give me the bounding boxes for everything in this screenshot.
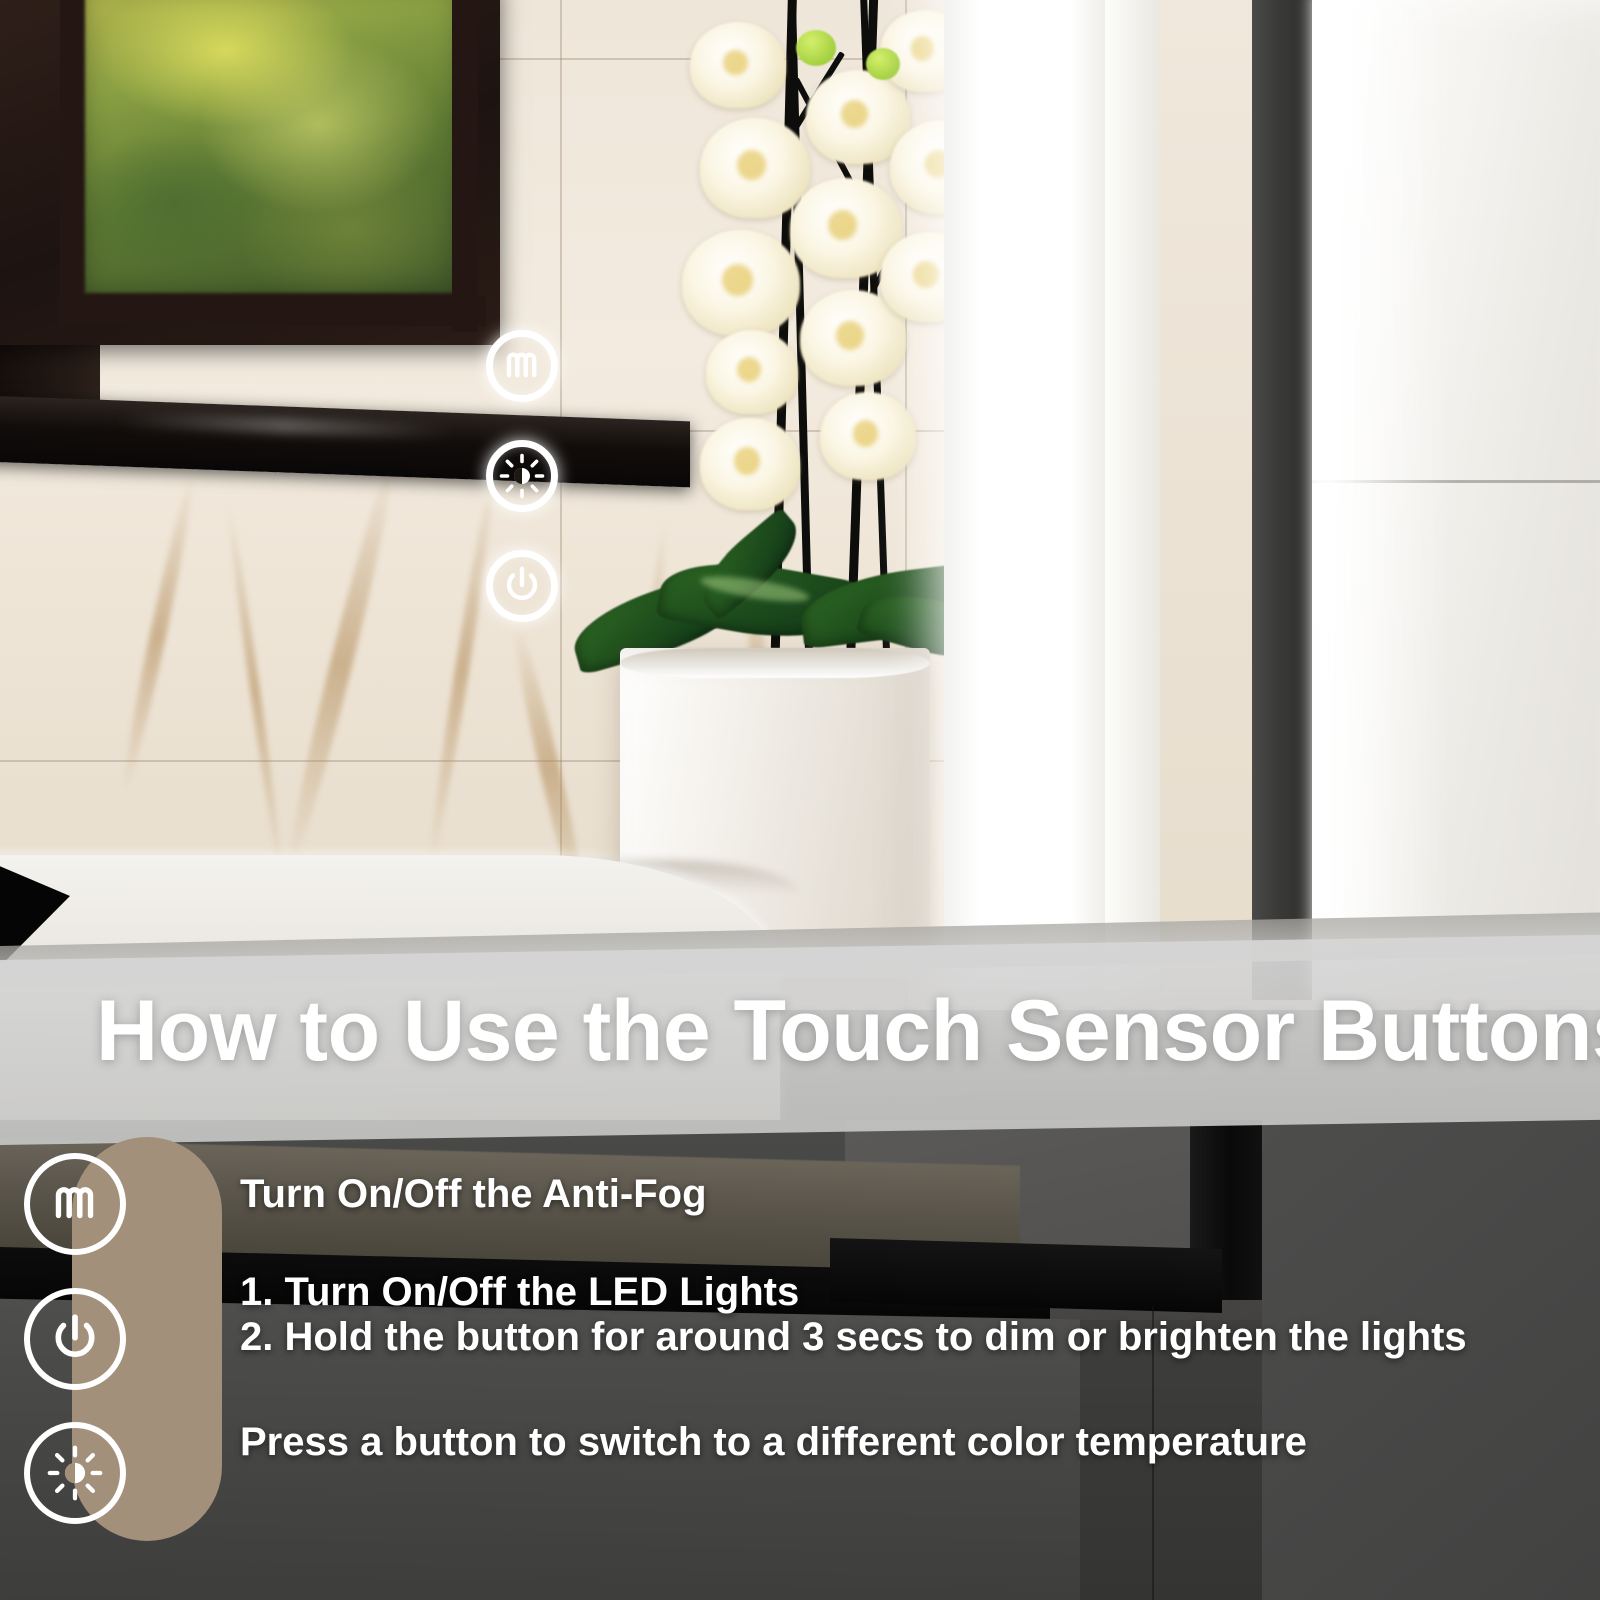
window-mullion <box>58 296 486 326</box>
brightness-icon <box>499 453 545 499</box>
page-title: How to Use the Touch Sensor Buttons <box>96 988 1566 1074</box>
orchid-bloom <box>690 22 786 108</box>
legend-line: 2. Hold the button for around 3 secs to … <box>240 1315 1467 1360</box>
window-glass-foliage <box>78 0 466 300</box>
legend-row-color-temp: Press a button to switch to a different … <box>240 1420 1307 1465</box>
power-sensor[interactable] <box>486 550 558 622</box>
legend-icon-anti-fog[interactable] <box>0 1137 150 1271</box>
legend-line: 1. Turn On/Off the LED Lights <box>240 1270 1467 1315</box>
mirror-led-strip-secondary <box>1105 0 1165 990</box>
legend-row-anti-fog: Turn On/Off the Anti-Fog <box>240 1172 707 1217</box>
orchid-bloom <box>820 392 916 480</box>
mirror-led-strip <box>944 0 1106 990</box>
window-mullion <box>452 0 478 332</box>
brightness-icon <box>46 1444 104 1502</box>
orchid-bud <box>796 30 836 66</box>
marble-wall-right <box>1160 0 1256 990</box>
orchid-bloom <box>700 418 800 510</box>
anti-fog-icon <box>500 344 544 388</box>
anti-fog-sensor[interactable] <box>486 330 558 402</box>
power-icon <box>48 1312 102 1366</box>
planter-rim <box>620 648 930 678</box>
power-icon <box>501 565 543 607</box>
orchid-bud <box>866 48 900 80</box>
legend-line: Turn On/Off the Anti-Fog <box>240 1172 707 1217</box>
window-mullion <box>60 0 82 320</box>
orchid-bloom <box>682 230 800 336</box>
outer-wall-glow <box>1312 0 1452 1000</box>
legend-row-led-power: 1. Turn On/Off the LED Lights 2. Hold th… <box>240 1270 1467 1360</box>
orchid-bloom <box>700 118 810 218</box>
brightness-sensor[interactable] <box>486 440 558 512</box>
mirror-frame-right-edge <box>1252 0 1314 1000</box>
infographic-canvas: How to Use the Touch Sensor Buttons <box>0 0 1600 1600</box>
legend-icon-power[interactable] <box>0 1272 150 1406</box>
anti-fog-icon <box>47 1176 103 1232</box>
orchid-bloom <box>706 330 798 414</box>
legend-icon-brightness[interactable] <box>0 1406 150 1540</box>
wall-right <box>1262 1120 1600 1600</box>
legend-line: Press a button to switch to a different … <box>240 1420 1307 1465</box>
